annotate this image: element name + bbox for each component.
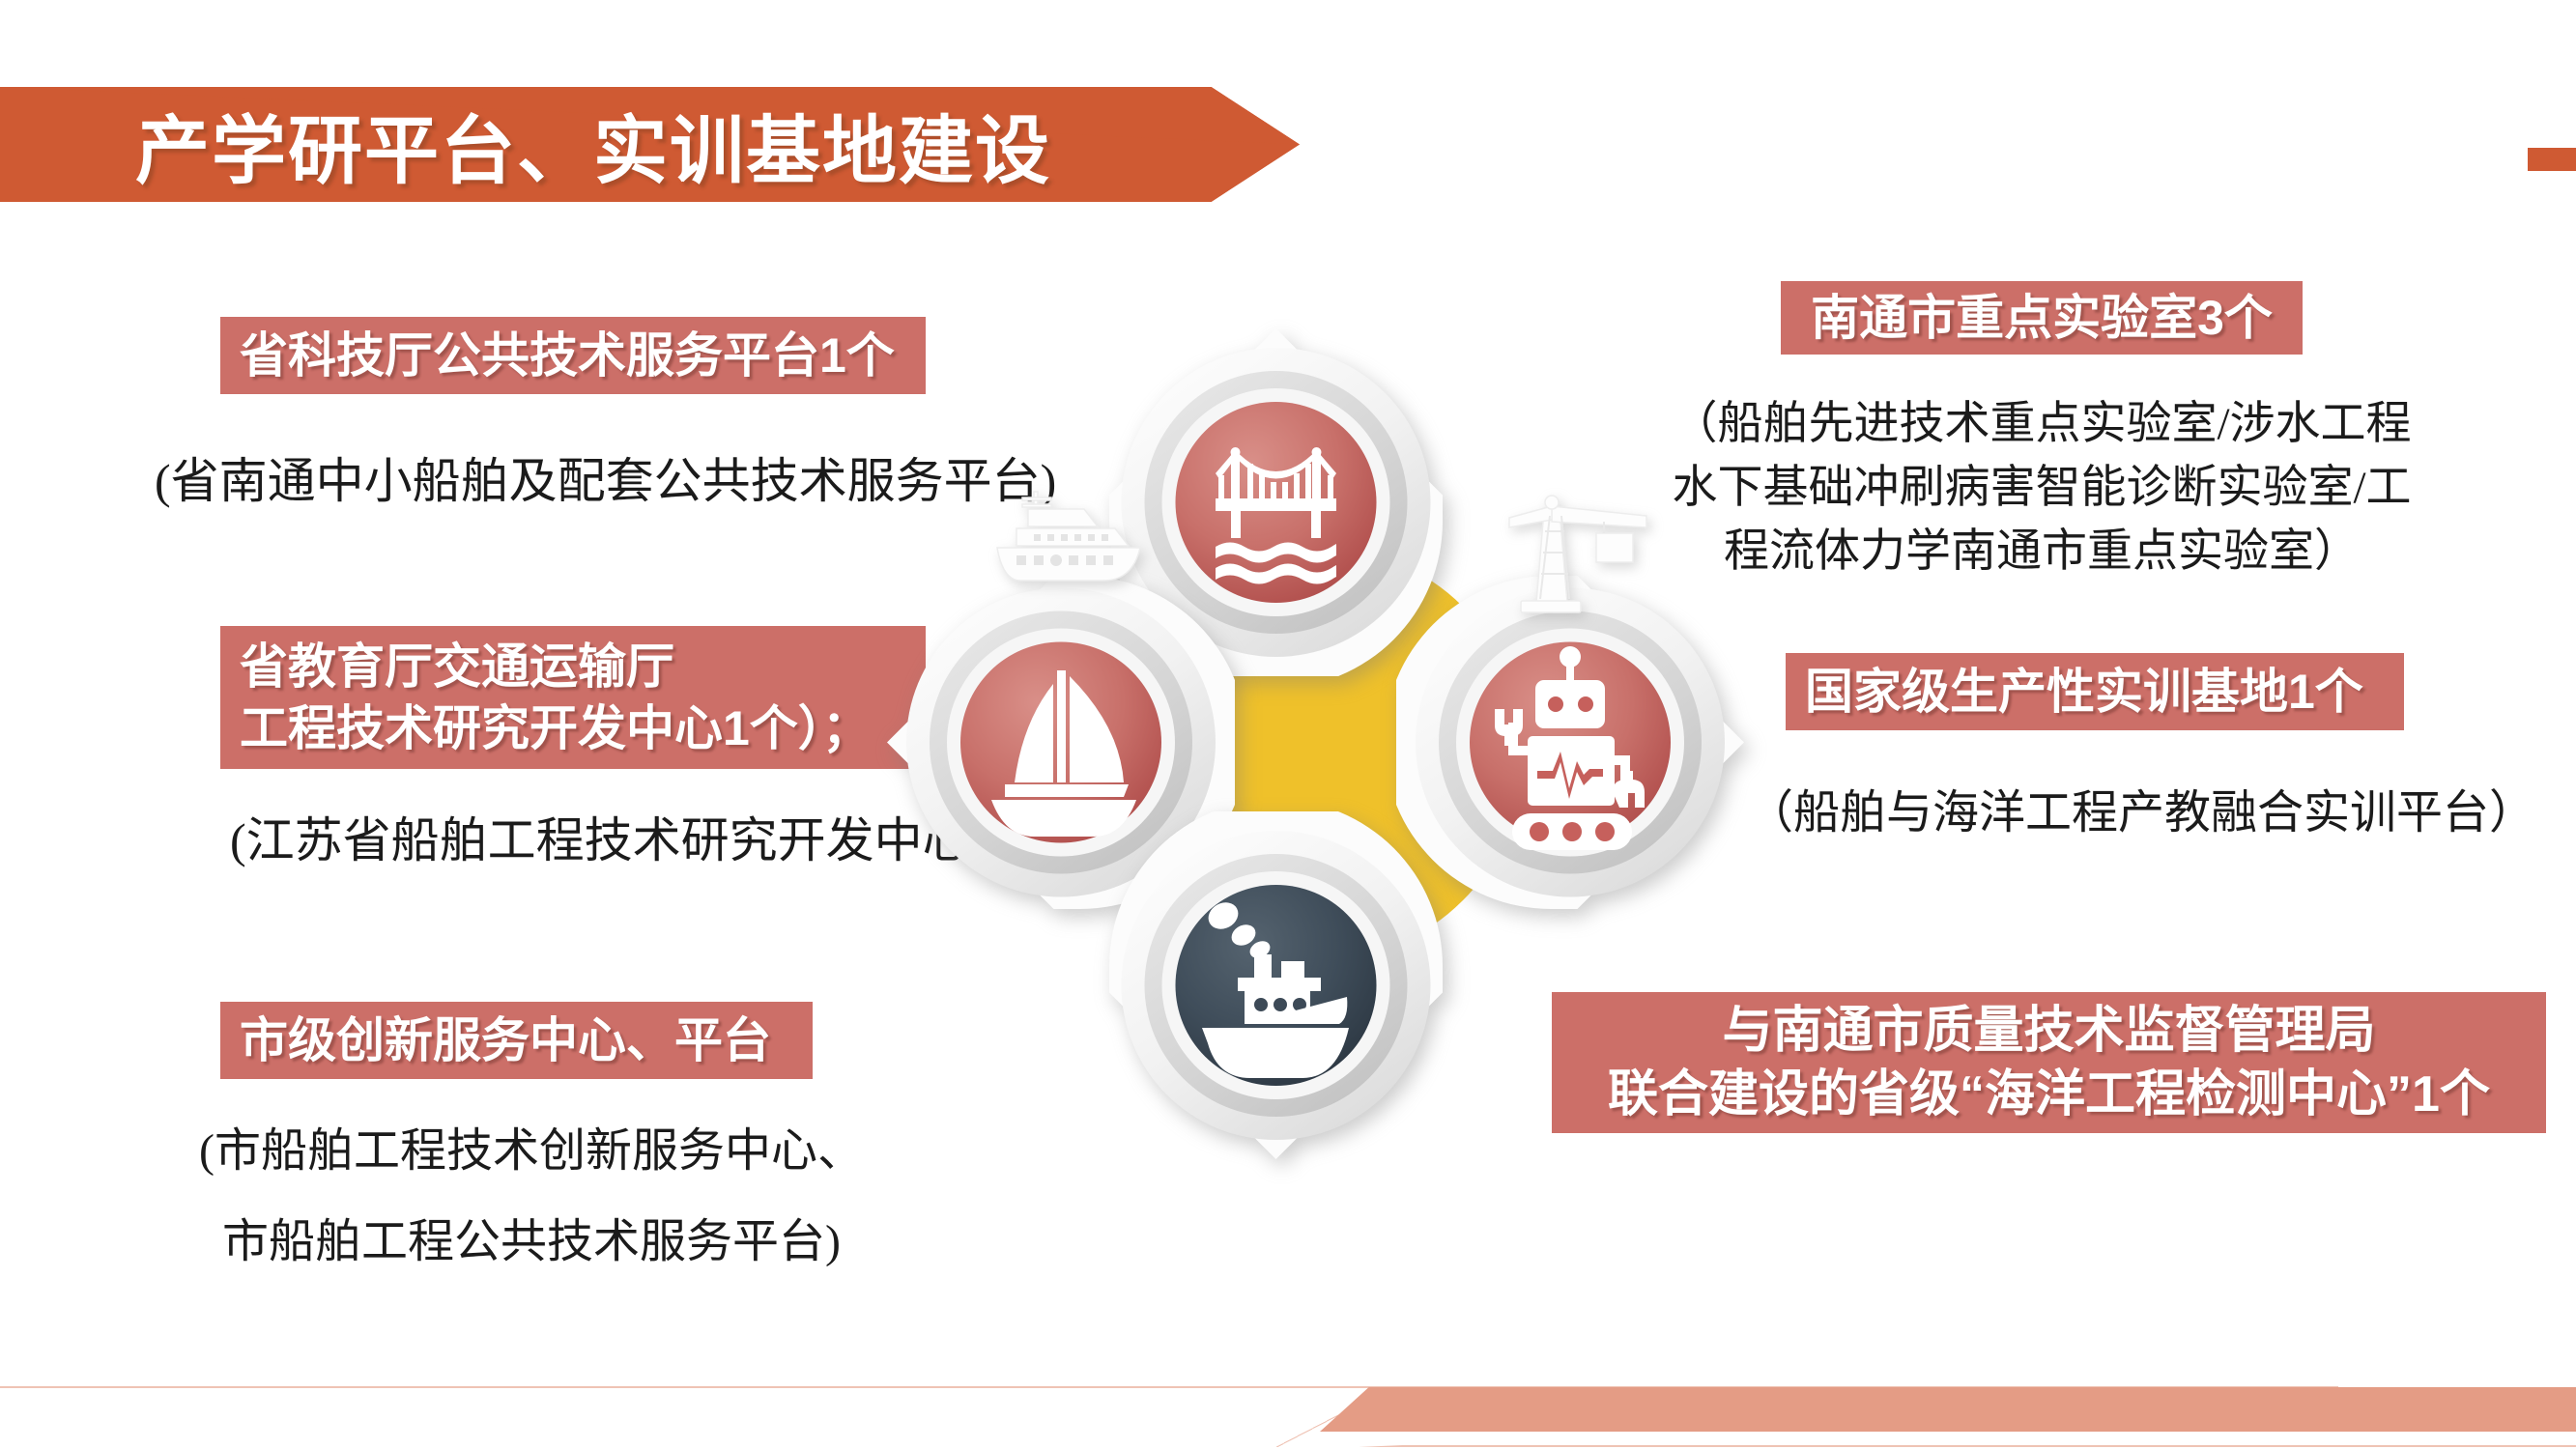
badge-line: 市级创新服务中心、平台 bbox=[240, 1013, 793, 1067]
badge-education-transport-rnd-center: 省教育厅交通运输厅 工程技术研究开发中心1个）； bbox=[220, 626, 926, 769]
cruise-ship-icon bbox=[984, 488, 1187, 609]
badge-line: 国家级生产性实训基地1个 bbox=[1805, 665, 2385, 719]
central-diagram bbox=[870, 309, 1759, 1294]
badge-line: 省教育厅交通运输厅 bbox=[240, 636, 906, 697]
badge-municipal-innovation-center: 市级创新服务中心、平台 bbox=[220, 1002, 813, 1079]
badge-provincial-tech-platform: 省科技厅公共技术服务平台1个 bbox=[220, 317, 926, 394]
caption-line: （船舶与海洋工程产教融合实训平台） bbox=[1747, 784, 2535, 842]
badge-nantong-key-labs: 南通市重点实验室3个 bbox=[1781, 281, 2303, 355]
caption-municipal-innovation-center: (市船舶工程技术创新服务中心、 市船舶工程公共技术服务平台) bbox=[193, 1106, 870, 1288]
badge-line: 南通市重点实验室3个 bbox=[1811, 291, 2273, 345]
bottom-hairline-lower bbox=[1359, 1445, 2576, 1447]
caption-line: 程流体力学南通市重点实验室） bbox=[1660, 520, 2423, 583]
top-right-accent bbox=[2528, 148, 2576, 171]
badge-national-training-base: 国家级生产性实训基地1个 bbox=[1786, 653, 2404, 730]
caption-national-training-base: （船舶与海洋工程产教融合实训平台） bbox=[1747, 784, 2535, 842]
caption-line: 市船舶工程公共技术服务平台) bbox=[193, 1197, 870, 1288]
tower-crane-icon bbox=[1488, 473, 1681, 642]
badge-line: 工程技术研究开发中心1个）； bbox=[240, 697, 906, 759]
caption-line: 水下基础冲刷病害智能诊断实验室/工 bbox=[1660, 456, 2423, 520]
caption-line: （船舶先进技术重点实验室/涉水工程 bbox=[1660, 392, 2423, 456]
slide-canvas: 产学研平台、实训基地建设 省科技厅公共技术服务平台1个 (省南通中小船舶及配套公… bbox=[0, 0, 2576, 1449]
page-title: 产学研平台、实训基地建设 bbox=[135, 92, 1051, 198]
bottom-right-band bbox=[1320, 1387, 2576, 1432]
badge-line: 与南通市质量技术监督管理局 bbox=[1722, 999, 2375, 1063]
badge-line: 省科技厅公共技术服务平台1个 bbox=[240, 328, 906, 383]
caption-nantong-key-labs: （船舶先进技术重点实验室/涉水工程 水下基础冲刷病害智能诊断实验室/工 程流体力… bbox=[1660, 392, 2423, 583]
node-bottom-steamship[interactable] bbox=[1109, 811, 1443, 1159]
caption-line: (市船舶工程技术创新服务中心、 bbox=[193, 1106, 870, 1197]
